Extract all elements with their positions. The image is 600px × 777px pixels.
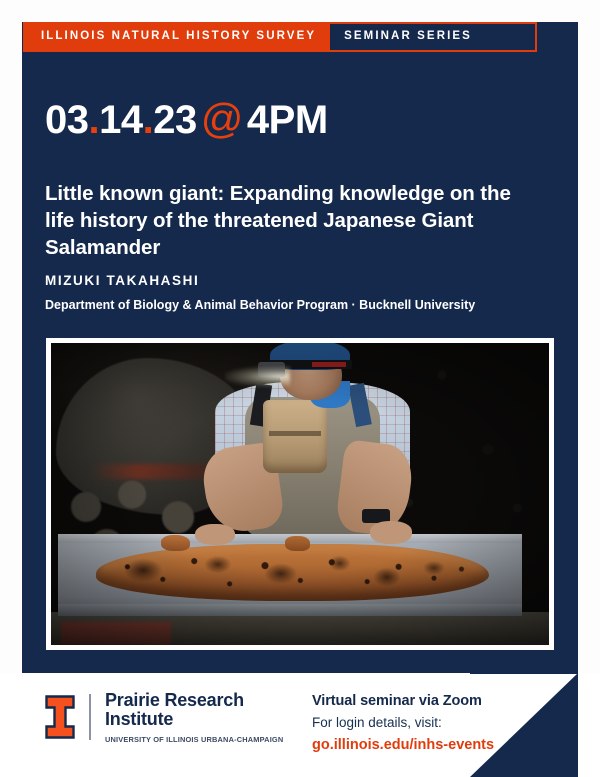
event-url-link[interactable]: go.illinois.edu/inhs-events [312,737,562,754]
date-separator-2: . [143,98,154,142]
researcher-hand-left [195,524,235,545]
institute-university-line: UNIVERSITY OF ILLINOIS URBANA-CHAMPAIGN [105,735,283,744]
banner-series-label: SEMINAR SERIES [330,24,535,50]
salamander-skin-texture [96,544,489,601]
banner-org-label: ILLINOIS NATURAL HISTORY SURVEY [25,24,330,50]
speaker-affiliation: Department of Biology & Animal Behavior … [45,297,475,313]
seminar-poster: ILLINOIS NATURAL HISTORY SURVEY SEMINAR … [0,0,600,777]
headlamp-beam [225,366,290,387]
salamander-midleg [285,536,310,551]
series-banner: ILLINOIS NATURAL HISTORY SURVEY SEMINAR … [23,22,537,52]
salamander-foreleg [161,535,191,552]
speaker-name: MIZUKI TAKAHASHI [45,274,199,288]
zoom-info-block: Virtual seminar via Zoom For login detai… [312,693,562,755]
date-month: 03 [45,98,89,142]
corner-triangle-connector [470,672,578,674]
poster-footer: Prairie Research Institute UNIVERSITY OF… [0,673,600,777]
event-time: 4PM [247,98,328,142]
zoom-instruction: For login details, visit: [312,714,562,732]
illinois-block-i-icon [45,695,75,739]
zoom-heading: Virtual seminar via Zoom [312,693,562,711]
salamander-photo [51,343,549,645]
at-symbol: @ [197,95,247,142]
researcher-hand-right [370,521,412,544]
institute-text: Prairie Research Institute UNIVERSITY OF… [105,691,283,744]
date-separator-1: . [89,98,100,142]
photo-frame [46,338,554,650]
institute-logo-block: Prairie Research Institute UNIVERSITY OF… [45,691,283,744]
page-title: Little known giant: Expanding knowledge … [45,180,545,261]
institute-name: Prairie Research Institute [105,691,283,730]
logo-divider [89,694,91,740]
date-year: 23 [153,98,197,142]
date-day: 14 [99,98,143,142]
event-datetime: 03.14.23@4PM [45,98,328,140]
cave-floor [51,612,549,645]
chest-pouch [263,400,328,472]
